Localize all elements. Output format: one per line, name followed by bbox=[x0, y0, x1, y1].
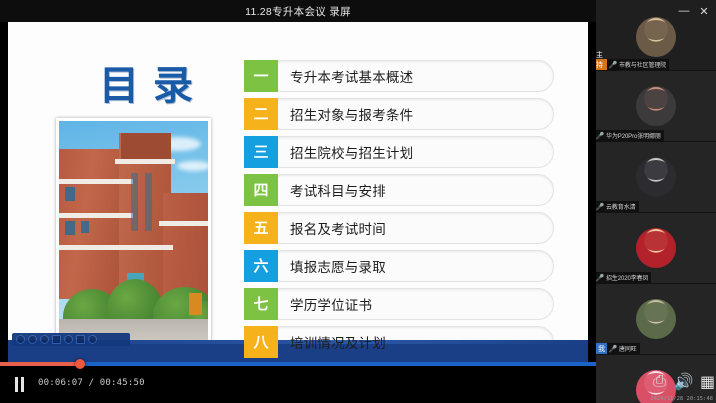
mic-icon: 🎤 bbox=[609, 61, 617, 69]
participant-tile[interactable]: 🎤云教育水清 bbox=[596, 142, 716, 213]
pause-button[interactable] bbox=[8, 375, 30, 393]
window-title-bar: 11.28专升本会议 录屏 bbox=[0, 0, 596, 22]
avatar bbox=[636, 228, 676, 268]
window-title: 11.28专升本会议 录屏 bbox=[245, 4, 351, 19]
photo-window bbox=[131, 173, 138, 231]
photo-building-top bbox=[121, 133, 171, 159]
avatar bbox=[636, 86, 676, 126]
participant-nametag: 主持人🎤市教与社区管理院 bbox=[596, 59, 669, 70]
pause-icon bbox=[21, 377, 24, 392]
participant-tile[interactable]: 我🎤唐同旺 bbox=[596, 284, 716, 355]
mic-icon: 🎤 bbox=[609, 345, 617, 353]
screen-share-icon[interactable]: ⎙ bbox=[653, 376, 666, 389]
photo-balcony bbox=[56, 245, 173, 250]
toc-item-label: 学历学位证书 bbox=[278, 288, 554, 320]
minimize-button[interactable]: — bbox=[674, 2, 694, 20]
avatar bbox=[636, 17, 676, 57]
photo-window bbox=[145, 173, 152, 231]
photo-cloud bbox=[177, 161, 211, 171]
avatar-detail bbox=[642, 302, 670, 322]
slide-heading: 目 录 bbox=[70, 60, 222, 112]
participant-name: 招生2020李春凤 bbox=[606, 273, 648, 282]
progress-handle[interactable] bbox=[75, 359, 85, 369]
self-badge-icon: 我 bbox=[596, 343, 607, 354]
campus-photo bbox=[56, 118, 211, 356]
participant-name: 唐同旺 bbox=[619, 344, 637, 353]
time-display: 00:06:07 / 00:45:50 bbox=[38, 378, 145, 388]
slide-heading-char-1: 目 bbox=[99, 66, 139, 106]
progress-played bbox=[0, 362, 80, 366]
video-stage[interactable]: 目 录 bbox=[0, 22, 596, 362]
photo-balcony bbox=[115, 159, 175, 164]
window-controls: — ✕ bbox=[674, 2, 714, 20]
presentation-mini-toolbar[interactable] bbox=[12, 333, 130, 346]
toc-item-label: 考试科目与安排 bbox=[278, 174, 554, 206]
toc-item: 八培训情况及计划 bbox=[244, 326, 554, 358]
photo-balcony bbox=[159, 221, 211, 226]
mini-toolbar-icon[interactable] bbox=[28, 335, 37, 344]
toc-item-number: 八 bbox=[244, 326, 278, 358]
mini-toolbar-icon[interactable] bbox=[16, 335, 25, 344]
slide-heading-char-2: 录 bbox=[153, 66, 193, 106]
toc-item: 七学历学位证书 bbox=[244, 288, 554, 320]
toc-item-number: 五 bbox=[244, 212, 278, 244]
progress-buffered bbox=[0, 362, 596, 366]
photo-balcony bbox=[56, 179, 133, 184]
mini-toolbar-icon[interactable] bbox=[64, 335, 73, 344]
toc-item-label: 填报志愿与录取 bbox=[278, 250, 554, 282]
toc-item: 六填报志愿与录取 bbox=[244, 250, 554, 282]
photo-balcony bbox=[56, 213, 133, 218]
host-badge-icon: 主持人 bbox=[596, 59, 607, 70]
mic-icon: 🎤 bbox=[596, 132, 604, 140]
participant-tiles: 主持人🎤市教与社区管理院🎤华为P20Pro张明娜丽🎤云教育水清🎤招生2020李春… bbox=[596, 0, 716, 403]
photo-window bbox=[81, 221, 89, 233]
participant-tile[interactable]: 🎤招生2020李春凤 bbox=[596, 213, 716, 284]
avatar-detail bbox=[642, 89, 670, 109]
toc-item-number: 一 bbox=[244, 60, 278, 92]
progress-bar[interactable] bbox=[0, 362, 596, 366]
toc-item: 二招生对象与报考条件 bbox=[244, 98, 554, 130]
participant-nametag: 我🎤唐同旺 bbox=[596, 343, 640, 354]
avatar bbox=[636, 299, 676, 339]
avatar-detail bbox=[642, 160, 670, 180]
video-player-controls: 00:06:07 / 00:45:50 bbox=[0, 362, 596, 403]
toc-item-label: 招生院校与招生计划 bbox=[278, 136, 554, 168]
participant-nametag: 🎤华为P20Pro张明娜丽 bbox=[596, 130, 664, 141]
avatar bbox=[636, 157, 676, 197]
toc-item: 五报名及考试时间 bbox=[244, 212, 554, 244]
photo-window bbox=[65, 187, 75, 201]
grid-view-icon[interactable]: ▦ bbox=[701, 376, 714, 389]
close-button[interactable]: ✕ bbox=[694, 2, 714, 20]
participant-name: 华为P20Pro张明娜丽 bbox=[606, 131, 661, 140]
toc-item-label: 招生对象与报考条件 bbox=[278, 98, 554, 130]
slide-toc-list: 一专升本考试基本概述二招生对象与报考条件三招生院校与招生计划四考试科目与安排五报… bbox=[244, 60, 554, 362]
speaker-icon[interactable]: 🔊 bbox=[677, 376, 690, 389]
participant-nametag: 🎤云教育水清 bbox=[596, 201, 639, 212]
toc-item-number: 三 bbox=[244, 136, 278, 168]
toc-item-label: 专升本考试基本概述 bbox=[278, 60, 554, 92]
toc-item-label: 报名及考试时间 bbox=[278, 212, 554, 244]
toc-item: 四考试科目与安排 bbox=[244, 174, 554, 206]
toc-item: 一专升本考试基本概述 bbox=[244, 60, 554, 92]
mini-toolbar-icon[interactable] bbox=[88, 335, 97, 344]
participant-name: 云教育水清 bbox=[606, 202, 636, 211]
toc-item: 三招生院校与招生计划 bbox=[244, 136, 554, 168]
toc-item-number: 七 bbox=[244, 288, 278, 320]
participant-tile[interactable]: 🎤华为P20Pro张明娜丽 bbox=[596, 71, 716, 142]
participant-panel: — ✕ 主持人🎤市教与社区管理院🎤华为P20Pro张明娜丽🎤云教育水清🎤招生20… bbox=[596, 0, 716, 403]
photo-signboard bbox=[189, 293, 202, 315]
avatar-detail bbox=[642, 20, 670, 40]
avatar-detail bbox=[642, 231, 670, 251]
panel-toolbar: ⎙🔊▦ bbox=[624, 374, 714, 390]
mini-toolbar-icon[interactable] bbox=[76, 335, 85, 344]
mic-icon: 🎤 bbox=[596, 203, 604, 211]
photo-window bbox=[65, 221, 75, 235]
presentation-slide: 目 录 bbox=[8, 22, 588, 362]
participant-nametag: 🎤招生2020李春凤 bbox=[596, 272, 651, 283]
toc-item-label: 培训情况及计划 bbox=[278, 326, 554, 358]
pause-icon bbox=[15, 377, 18, 392]
mini-toolbar-icon[interactable] bbox=[52, 335, 61, 344]
toc-item-number: 六 bbox=[244, 250, 278, 282]
mic-icon: 🎤 bbox=[596, 274, 604, 282]
toc-item-number: 二 bbox=[244, 98, 278, 130]
mini-toolbar-icon[interactable] bbox=[40, 335, 49, 344]
toc-item-number: 四 bbox=[244, 174, 278, 206]
panel-timestamp: 2024/11/28 20:15:48 bbox=[650, 396, 713, 402]
participant-name: 市教与社区管理院 bbox=[619, 60, 666, 69]
